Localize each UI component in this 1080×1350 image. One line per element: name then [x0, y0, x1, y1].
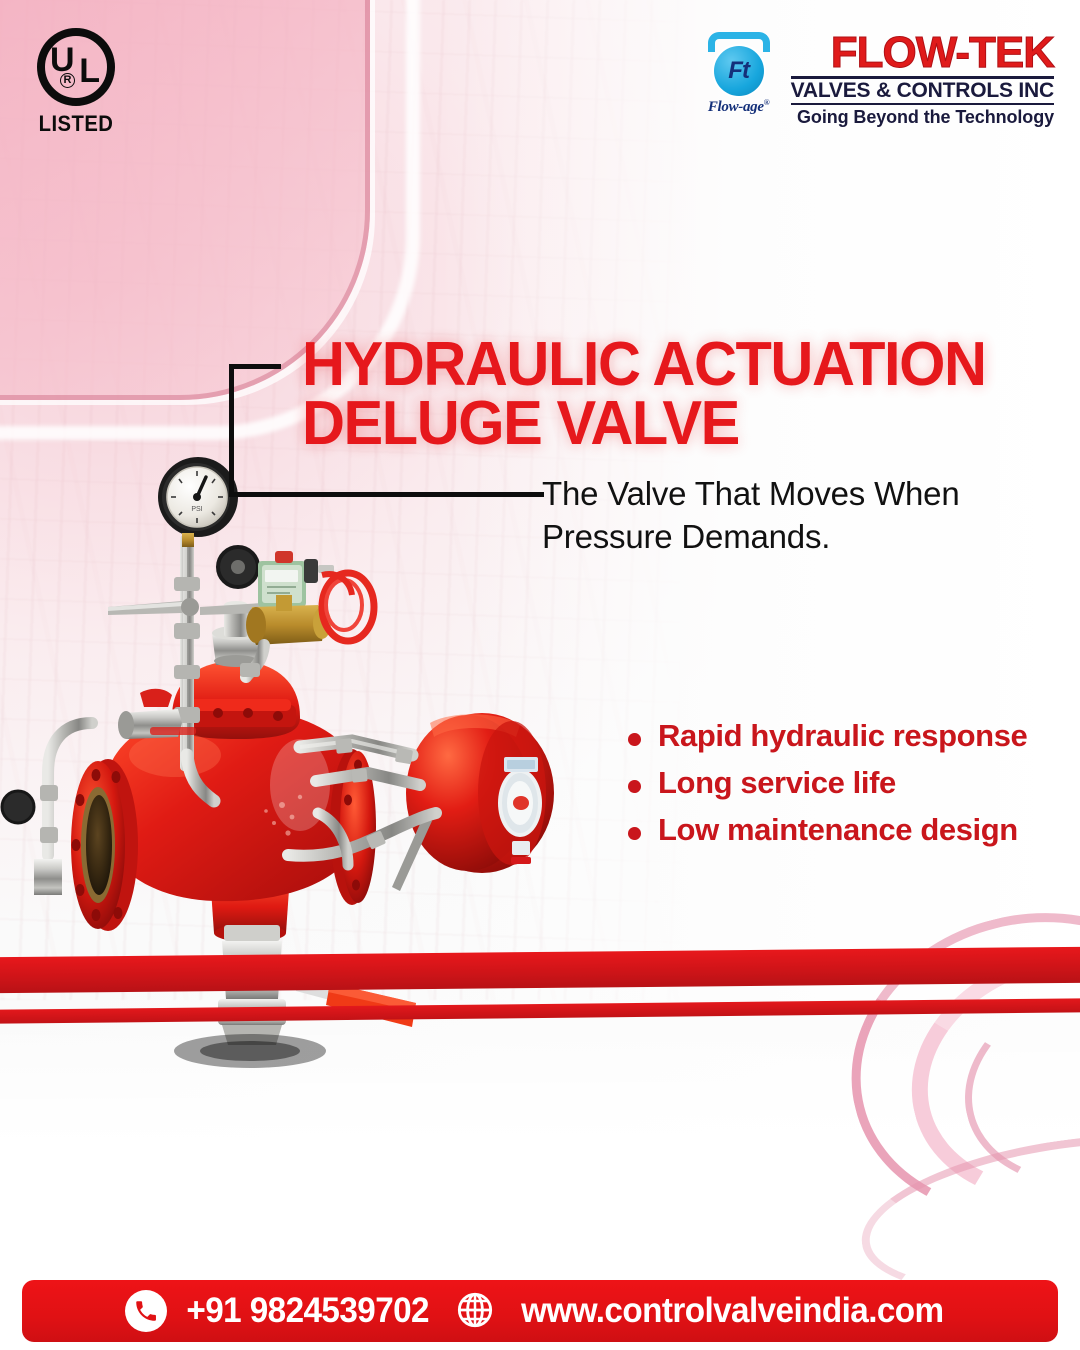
- list-item: Low maintenance design: [628, 812, 1027, 848]
- brand-logo[interactable]: Ft Flow-age® FLOW-TEK VALVES & CONTROLS …: [699, 30, 1054, 128]
- bullet-dot-icon: [628, 780, 641, 793]
- ul-letter-u: U: [50, 43, 75, 77]
- emblem-registered-icon: ®: [764, 98, 770, 107]
- bullet-dot-icon: [628, 827, 641, 840]
- page-subtitle: The Valve That Moves When Pressure Deman…: [542, 473, 1042, 559]
- poster-canvas: U L R LISTED Ft Flow-age® FLOW-TEK VALVE…: [0, 0, 1080, 1350]
- ul-mark-icon: U L R: [37, 28, 115, 106]
- emblem-circle-icon: Ft: [714, 46, 764, 96]
- feature-label: Rapid hydraulic response: [658, 718, 1027, 754]
- feature-label: Low maintenance design: [658, 812, 1018, 848]
- emblem-wordmark: Flow-age®: [699, 98, 779, 116]
- bullet-dot-icon: [628, 733, 641, 746]
- emblem-wordmark-text: Flow-age: [708, 99, 764, 115]
- callout-line-top: [229, 364, 281, 369]
- callout-line-vertical: [229, 364, 234, 497]
- ul-listed-label: LISTED: [28, 111, 124, 137]
- contact-footer-bar: +91 9824539702 www.controlvalveindia.com: [22, 1280, 1058, 1342]
- list-item: Long service life: [628, 765, 1027, 801]
- feature-label: Long service life: [658, 765, 896, 801]
- ul-listed-badge: U L R LISTED: [24, 28, 128, 137]
- brand-division: VALVES & CONTROLS INC: [791, 80, 1054, 102]
- registered-icon: R: [60, 73, 75, 88]
- flow-age-emblem-icon: Ft Flow-age®: [699, 30, 779, 116]
- page-title: HYDRAULIC ACTUATION DELUGE VALVE: [302, 336, 1032, 454]
- headline-line-2: DELUGE VALVE: [302, 395, 1032, 454]
- phone-icon: [125, 1290, 167, 1332]
- list-item: Rapid hydraulic response: [628, 718, 1027, 754]
- logo-divider-bottom: [791, 103, 1054, 105]
- globe-icon: [455, 1290, 497, 1332]
- website-contact[interactable]: www.controlvalveindia.com: [455, 1290, 955, 1332]
- phone-contact[interactable]: +91 9824539702: [125, 1290, 435, 1332]
- svg-text:PSI: PSI: [191, 506, 202, 513]
- brand-tagline: Going Beyond the Technology: [791, 107, 1054, 128]
- emblem-initials: Ft: [728, 57, 749, 85]
- phone-number: +91 9824539702: [186, 1291, 429, 1331]
- callout-line-bottom: [229, 492, 544, 497]
- website-url: www.controlvalveindia.com: [521, 1291, 943, 1331]
- brand-wordmark: FLOW-TEK VALVES & CONTROLS INC Going Bey…: [791, 30, 1054, 128]
- ul-letter-l: L: [79, 54, 100, 88]
- feature-list: Rapid hydraulic response Long service li…: [628, 718, 1027, 859]
- brand-name: FLOW-TEK: [791, 32, 1054, 74]
